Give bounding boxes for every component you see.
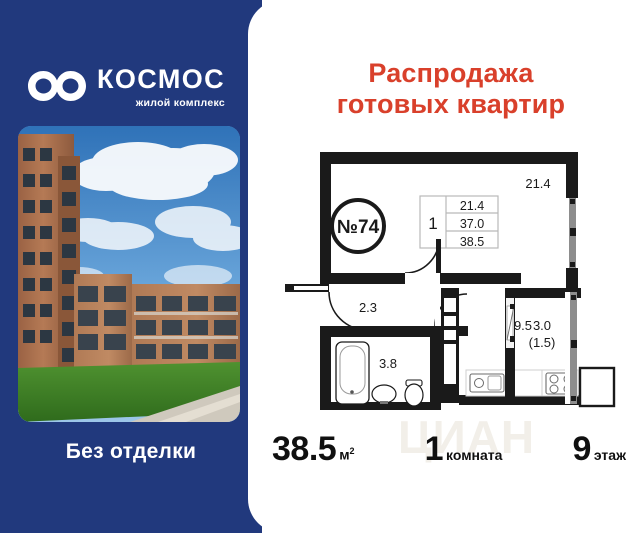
stat-area: 38.5 м2 <box>272 430 355 469</box>
room-area-hall: 2.3 <box>359 300 377 315</box>
infinity-loop-icon <box>26 66 88 106</box>
stat-floor: 9 этаж <box>572 430 626 469</box>
headline-line-1: Распродажа <box>368 58 533 88</box>
residential-complex-photo <box>18 126 240 422</box>
stat-area-unit: м2 <box>339 446 354 463</box>
floor-plan: 21.4 №74 1 21.4 37.0 38.5 <box>280 140 630 410</box>
stat-floor-unit: этаж <box>594 447 626 463</box>
svg-text:1: 1 <box>428 214 437 233</box>
summary-row: 38.5 м2 1 комната 9 этаж <box>262 430 640 478</box>
stat-rooms-value: 1 <box>425 430 443 469</box>
room-area-living: 21.4 <box>525 176 550 191</box>
brand-name: КОСМОС <box>97 66 225 93</box>
room-area-balcony-counted: (1.5) <box>529 335 556 350</box>
stat-floor-value: 9 <box>572 430 590 469</box>
stat-rooms-unit: комната <box>446 447 502 463</box>
brand-logo: КОСМОС жилой комплекс <box>26 58 241 114</box>
brand-tagline: жилой комплекс <box>97 98 225 109</box>
listing-card: КОСМОС жилой комплекс <box>0 0 640 533</box>
svg-text:38.5: 38.5 <box>460 235 484 249</box>
svg-text:37.0: 37.0 <box>460 217 484 231</box>
stat-area-value: 38.5 <box>272 430 336 469</box>
apartment-number: №74 <box>337 217 380 238</box>
room-area-bathroom: 3.8 <box>379 356 397 371</box>
finish-caption: Без отделки <box>0 440 262 464</box>
stat-rooms: 1 комната <box>425 430 503 469</box>
room-area-kitchen: 9.5 <box>514 318 532 333</box>
room-area-balcony: 3.0 <box>533 318 551 333</box>
svg-text:21.4: 21.4 <box>460 199 484 213</box>
plan-info-box: 1 21.4 37.0 38.5 <box>420 196 498 249</box>
page-title: Распродажа готовых квартир <box>268 58 634 121</box>
headline-line-2: готовых квартир <box>268 89 634 120</box>
